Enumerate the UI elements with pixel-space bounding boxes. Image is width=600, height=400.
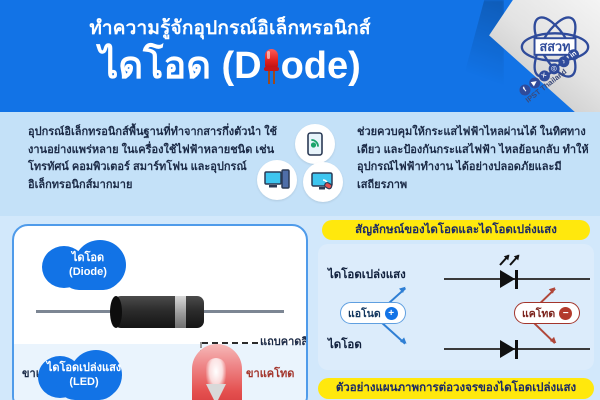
diode-color-band (175, 296, 186, 328)
smart-tv-icon (303, 162, 343, 202)
symbol-row-led-label: ไดโอดเปล่งแสง (328, 266, 406, 284)
symbol-diagram-panel: ไดโอดเปล่งแสง ไดโอด แอโนด (318, 244, 594, 370)
diode-component-art: แถบคาดสี ขาแอโนด ขาแคโทด (14, 282, 306, 340)
symbol-row-diode-label: ไดโอด (328, 336, 362, 354)
led-photo-icon (182, 344, 252, 400)
header-title-group: ทำความรู้จักอุปกรณ์อิเล็กทรอนิกส์ ไดโอด … (0, 16, 460, 89)
led-name-blob: ไดโอดเปล่งแสง (LED) (38, 350, 130, 400)
infographic-page: ทำความรู้จักอุปกรณ์อิเล็กทรอนิกส์ ไดโอด … (0, 0, 600, 400)
minus-sign-icon: − (559, 307, 572, 320)
header-banner: ทำความรู้จักอุปกรณ์อิเล็กทรอนิกส์ ไดโอด … (0, 0, 600, 112)
desktop-computer-icon (257, 160, 297, 200)
plus-sign-icon: + (385, 307, 398, 320)
device-icon-cluster (255, 124, 373, 210)
symbol-card: สัญลักษณ์ของไดโอดและไดโอดเปล่งแสง ไดโอดเ… (312, 216, 600, 400)
symbol-section-banner: สัญลักษณ์ของไดโอดและไดโอดเปล่งแสง (322, 220, 590, 240)
header-title-before: ไดโอด (D (99, 43, 261, 89)
cathode-node-badge: แคโทด − (514, 302, 580, 324)
band-callout-label: แถบคาดสี (260, 332, 308, 350)
intro-text-left-column: อุปกรณ์อิเล็กทรอนิกส์พื้นฐานที่ทำจากสารก… (28, 124, 278, 194)
diode-name-blob: ไดโอด (Diode) (42, 240, 134, 290)
anode-node-label: แอโนด (348, 305, 381, 322)
intro-text-left: อุปกรณ์อิเล็กทรอนิกส์พื้นฐานที่ทำจากสารก… (28, 124, 278, 194)
header-subtitle: ทำความรู้จักอุปกรณ์อิเล็กทรอนิกส์ (0, 16, 460, 42)
cathode-node-label: แคโทด (522, 305, 555, 322)
header-title-after: ode) (281, 43, 361, 89)
diode-label-line2: (Diode) (69, 265, 107, 279)
diode-illustration-card: ไดโอด (Diode) แถบคาดสี ขาแอโนด ขาแคโทด ไ… (12, 224, 308, 400)
anode-node-badge: แอโนด + (340, 302, 406, 324)
diode-lead-left (36, 310, 120, 313)
led-label-line2: (LED) (69, 375, 98, 389)
led-label-line1: ไดโอดเปล่งแสง (47, 361, 121, 375)
led-letter-i-icon (263, 46, 280, 86)
header-title: ไดโอด (D ode) (0, 43, 460, 89)
diode-lead-right (200, 310, 284, 313)
example-section-banner: ตัวอย่างแผนภาพการต่อวงจรของไดโอดเปล่งแสง (318, 378, 594, 399)
diode-body (114, 296, 204, 328)
svg-text:สสวท: สสวท (540, 40, 571, 54)
intro-text-right-column: ช่วยควบคุมให้กระแสไฟฟ้าไหลผ่านได้ ในทิศท… (357, 124, 595, 194)
smartphone-icon (295, 124, 335, 164)
intro-text-right: ช่วยควบคุมให้กระแสไฟฟ้าไหลผ่านได้ ในทิศท… (357, 124, 595, 194)
cathode-leg-label: ขาแคโทด (246, 364, 294, 382)
diode-label-line1: ไดโอด (72, 251, 104, 265)
